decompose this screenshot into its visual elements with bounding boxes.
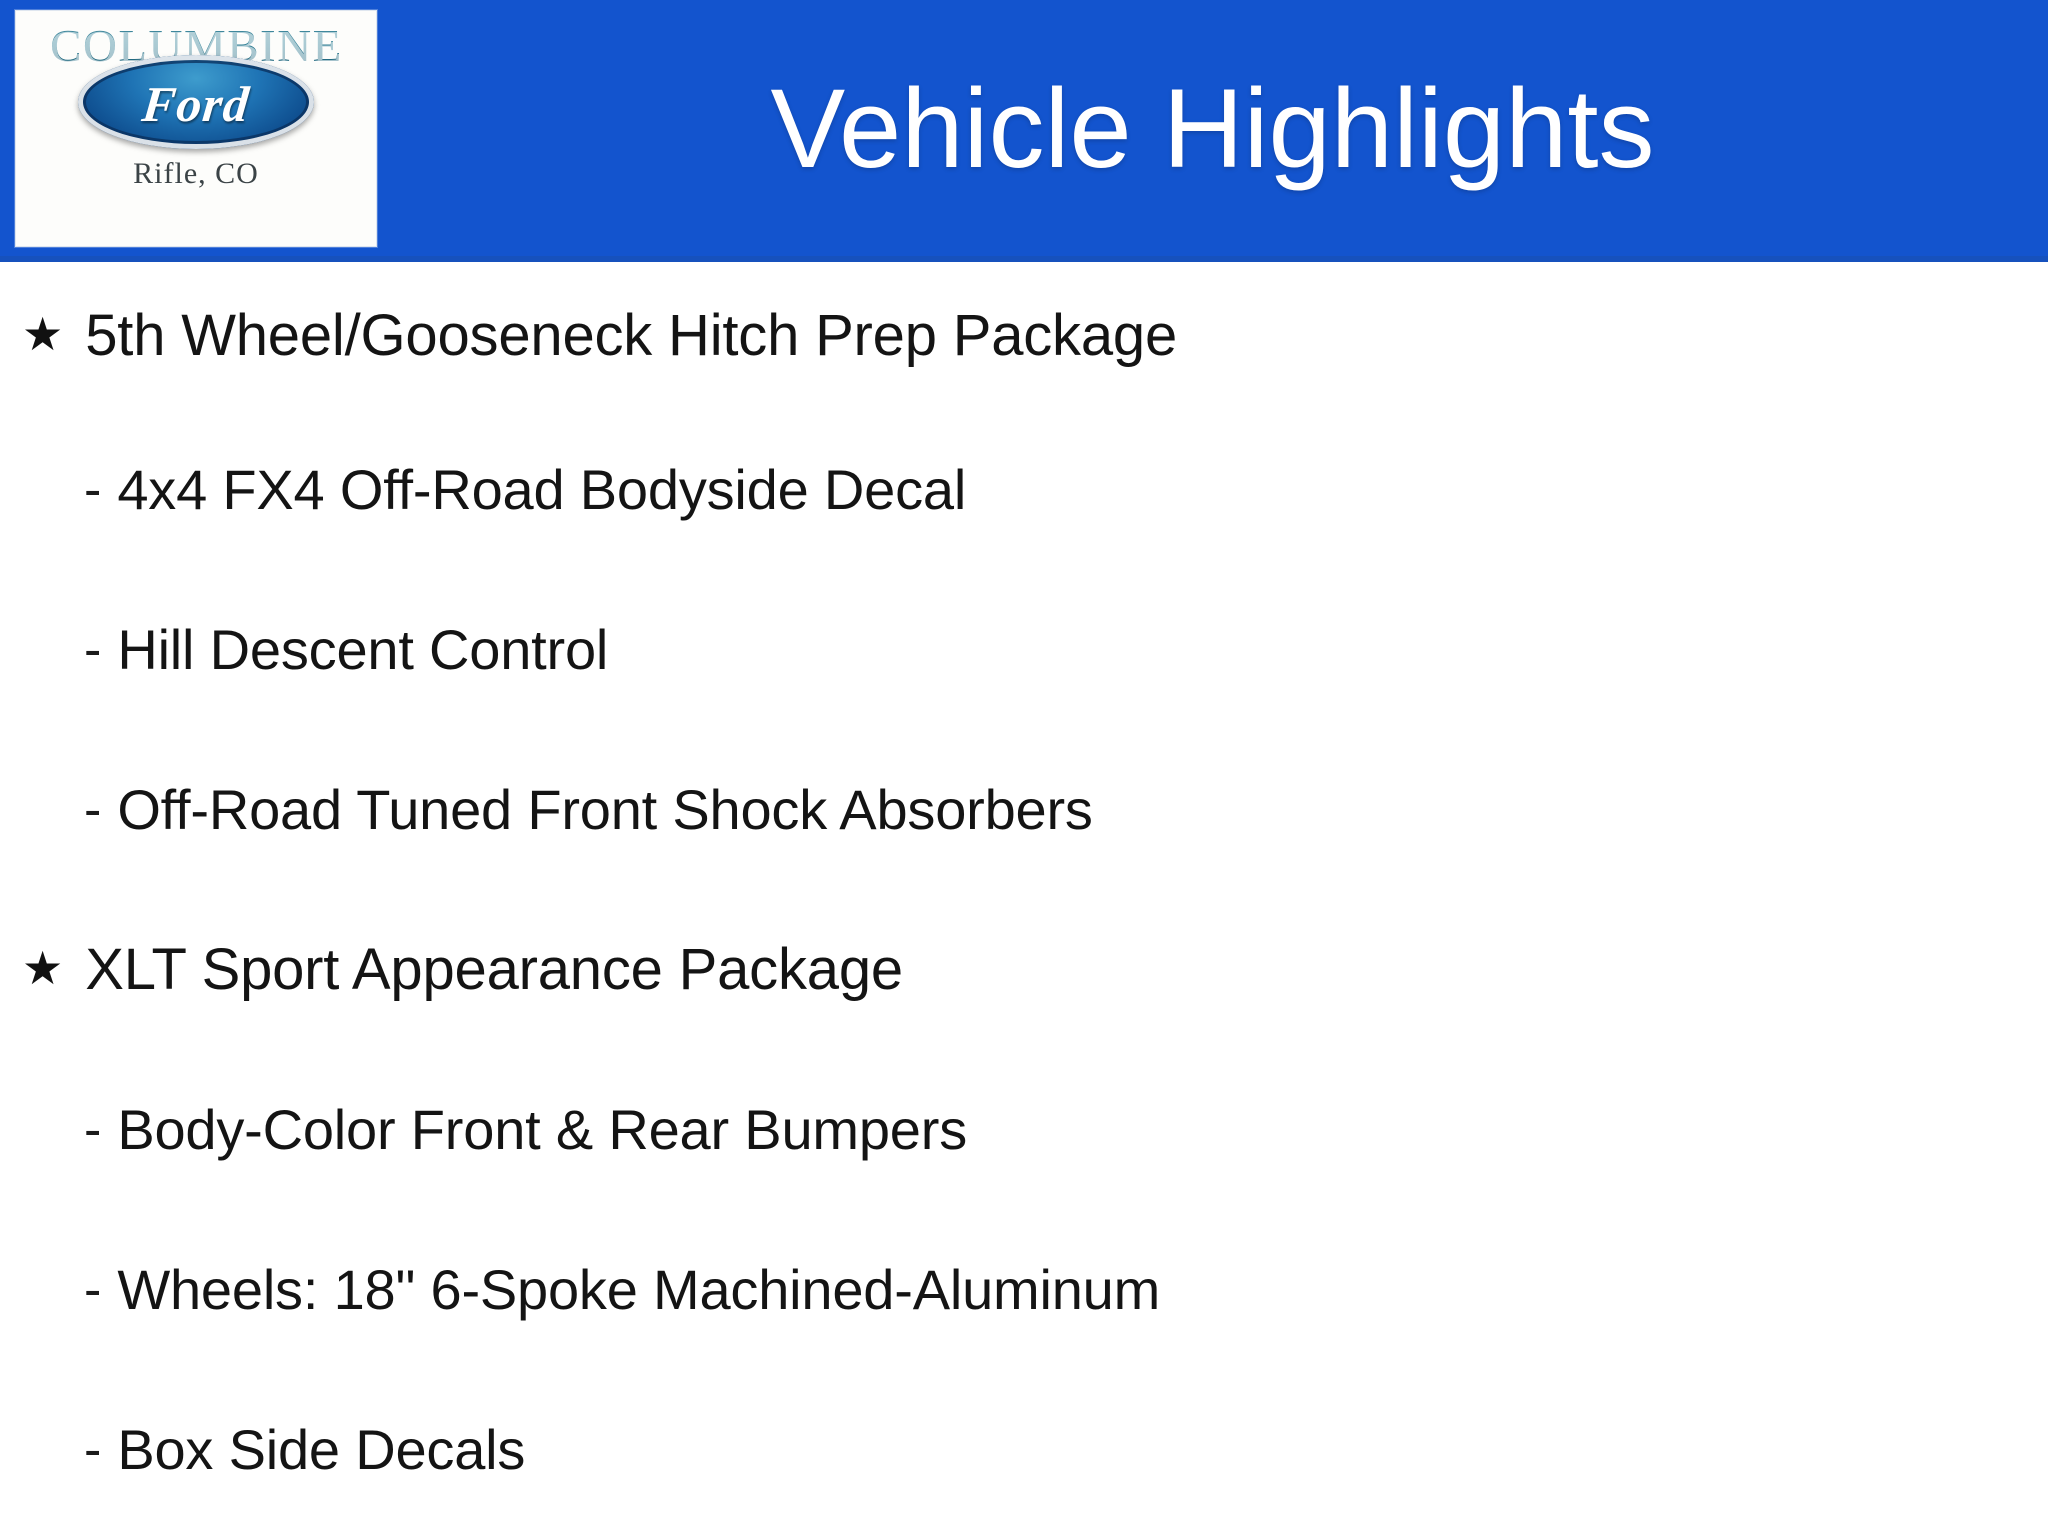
- ford-brand-script: Ford: [73, 57, 319, 151]
- list-item: -Hill Descent Control: [0, 570, 2048, 730]
- highlights-section: ★5th Wheel/Gooseneck Hitch Prep Package-…: [0, 262, 2048, 1530]
- list-item-label: Wheels: 18" 6-Spoke Machined-Aluminum: [117, 1261, 1160, 1320]
- logo-city-label: Rifle, CO: [133, 157, 259, 191]
- list-item: -4x4 FX4 Off-Road Bodyside Decal: [0, 410, 2048, 570]
- list-item: -Off-Road Tuned Front Shock Absorbers: [0, 730, 2048, 890]
- star-icon: ★: [22, 311, 63, 357]
- highlights-list: ★5th Wheel/Gooseneck Hitch Prep Package-…: [0, 262, 2048, 1530]
- list-item-label: Body-Color Front & Rear Bumpers: [117, 1101, 967, 1160]
- star-icon: ★: [22, 945, 63, 991]
- list-item-label: XLT Sport Appearance Package: [85, 940, 903, 1001]
- list-item-label: Box Side Decals: [117, 1421, 525, 1480]
- list-item-label: Off-Road Tuned Front Shock Absorbers: [117, 781, 1092, 840]
- dash-icon: -: [84, 624, 101, 676]
- list-item: -Body-Color Front & Rear Bumpers: [0, 1050, 2048, 1210]
- dash-icon: -: [84, 1424, 101, 1476]
- page-title: Vehicle Highlights: [377, 0, 2048, 256]
- list-item: -Wheels: 18" 6-Spoke Machined-Aluminum: [0, 1210, 2048, 1370]
- list-item-label: 5th Wheel/Gooseneck Hitch Prep Package: [85, 306, 1177, 367]
- dealership-logo: COLUMBINE Ford Rifle, CO: [15, 10, 377, 247]
- dash-icon: -: [84, 1104, 101, 1156]
- dash-icon: -: [84, 1264, 101, 1316]
- dash-icon: -: [84, 464, 101, 516]
- dash-icon: -: [84, 784, 101, 836]
- ford-oval-icon: Ford: [78, 55, 314, 149]
- list-item: ★5th Wheel/Gooseneck Hitch Prep Package: [0, 262, 2048, 410]
- list-item: ★XLT Sport Appearance Package: [0, 890, 2048, 1050]
- list-item-label: Hill Descent Control: [117, 621, 608, 680]
- page-header: COLUMBINE Ford Rifle, CO Vehicle Highlig…: [0, 0, 2048, 262]
- list-item-label: 4x4 FX4 Off-Road Bodyside Decal: [117, 461, 966, 520]
- list-item: -Box Side Decals: [0, 1370, 2048, 1530]
